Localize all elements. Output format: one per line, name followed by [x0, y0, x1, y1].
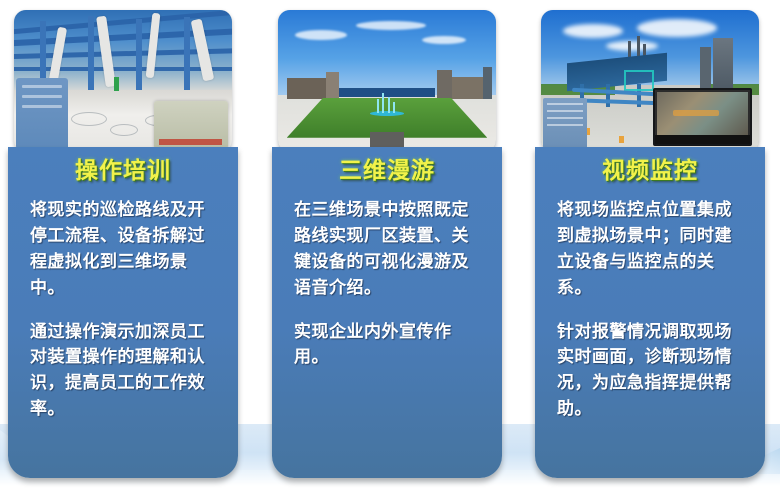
card-paragraph-1: 将现实的巡检路线及开停工流程、设备拆解过程虚拟化到三维场景中。: [8, 184, 238, 301]
card-panel: 操作培训 将现实的巡检路线及开停工流程、设备拆解过程虚拟化到三维场景中。 通过操…: [8, 147, 238, 478]
card-paragraph-1: 将现场监控点位置集成到虚拟场景中；同时建立设备与监控点的关系。: [535, 184, 765, 301]
card-paragraph-2: 针对报警情况调取现场实时画面，诊断现场情况，为应急指挥提供帮助。: [535, 302, 765, 423]
card-title: 三维漫游: [272, 147, 502, 184]
card-title: 视频监控: [535, 147, 765, 184]
video-feed-inset[interactable]: [653, 88, 753, 146]
card-paragraph-2: 实现企业内外宣传作用。: [272, 302, 502, 372]
video-control-bar[interactable]: [655, 135, 751, 144]
card-title: 操作培训: [8, 147, 238, 184]
feature-card-three-dimensional-roaming[interactable]: 三维漫游 在三维场景中按照既定路线实现厂区装置、关键设备的可视化漫游及语音介绍。…: [272, 10, 502, 478]
scene-indoor-plant: [14, 10, 232, 152]
thumbnail-video-surveillance[interactable]: [541, 10, 759, 152]
video-feed-image: [657, 92, 749, 135]
thumbnail-operation-training[interactable]: [14, 10, 232, 152]
card-paragraph-2: 通过操作演示加深员工对装置操作的理解和认识，提高员工的工作效率。: [8, 302, 238, 423]
scene-menu-panel: [543, 98, 587, 149]
scene-refinery: [541, 10, 759, 152]
scene-fountain: [370, 99, 405, 116]
feature-card-board: 操作培训 将现实的巡检路线及开停工流程、设备拆解过程虚拟化到三维场景中。 通过操…: [0, 0, 780, 491]
scene-side-panel: [16, 78, 68, 152]
feature-card-video-surveillance[interactable]: 视频监控 将现场监控点位置集成到虚拟场景中；同时建立设备与监控点的关系。 针对报…: [535, 10, 765, 478]
feature-card-operation-training[interactable]: 操作培训 将现实的巡检路线及开停工流程、设备拆解过程虚拟化到三维场景中。 通过操…: [8, 10, 238, 478]
scene-equipment: [154, 101, 228, 149]
card-panel: 视频监控 将现场监控点位置集成到虚拟场景中；同时建立设备与监控点的关系。 针对报…: [535, 147, 765, 478]
thumbnail-three-dimensional-roaming[interactable]: [278, 10, 496, 152]
card-paragraph-1: 在三维场景中按照既定路线实现厂区装置、关键设备的可视化漫游及语音介绍。: [272, 184, 502, 301]
card-panel: 三维漫游 在三维场景中按照既定路线实现厂区装置、关键设备的可视化漫游及语音介绍。…: [272, 147, 502, 478]
scene-outdoor-campus: [278, 10, 496, 152]
